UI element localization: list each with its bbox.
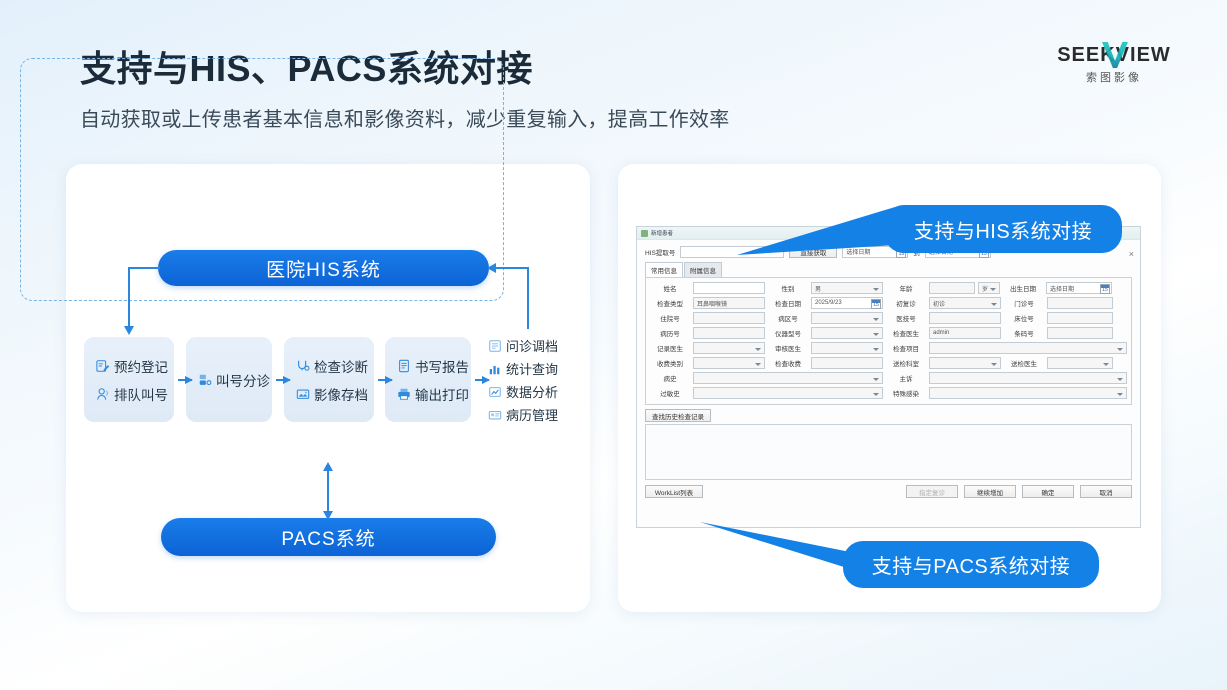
field-exam-fee-input[interactable]	[811, 357, 883, 369]
tab-attached-info-label: 附属信息	[690, 268, 716, 275]
field-value: 男	[815, 284, 821, 293]
field-label: 初复诊	[886, 298, 926, 308]
statistics-query-icon	[488, 362, 502, 376]
tab-common-info[interactable]: 常用信息	[645, 262, 683, 277]
flow-item: 排队叫号	[96, 384, 168, 404]
patient-icon	[641, 230, 648, 237]
field-label: 收费类别	[650, 358, 690, 368]
write-report-icon	[397, 359, 411, 373]
callout-his: 支持与HIS系统对接	[884, 205, 1122, 253]
field-allergy-history-input[interactable]	[693, 387, 883, 399]
field-tech-no-input[interactable]	[929, 312, 1001, 324]
dialog-action-bar: WorkList列表 指定复诊 继续增加 确定 取消	[637, 480, 1140, 498]
confirm-label: 确定	[1042, 487, 1055, 497]
worklist-button[interactable]: WorkList列表	[645, 485, 703, 498]
field-value: admin	[933, 330, 949, 336]
field-label: 记录医生	[650, 343, 690, 353]
cancel-label: 取消	[1100, 487, 1113, 497]
flow-item-label: 排队叫号	[114, 384, 168, 404]
field-bed-no-input[interactable]	[1047, 312, 1113, 324]
flow-item: 检查诊断	[296, 356, 368, 376]
confirm-button[interactable]: 确定	[1022, 485, 1074, 498]
new-patient-dialog: 新增患者 HIS提取号 直接获取 选择日期 15 到 选择日期 15 常用信息	[636, 226, 1141, 528]
field-label: 检查类型	[650, 298, 690, 308]
continue-add-button[interactable]: 继续增加	[964, 485, 1016, 498]
field-sending-doctor-select[interactable]	[1047, 357, 1113, 369]
flow-step-card-2[interactable]: 叫号分诊	[186, 337, 272, 422]
flow-item-label: 输出打印	[415, 384, 469, 404]
find-history-records-button[interactable]: 查找历史检查记录	[645, 409, 711, 422]
field-value: 选择日期	[1050, 284, 1074, 293]
connector-his-to-step1-horizontal	[128, 267, 160, 269]
worklist-label: WorkList列表	[655, 487, 693, 497]
form-row: 记录医生 审核医生 检查项目	[650, 342, 1127, 354]
tab-common-info-label: 常用信息	[651, 268, 677, 275]
field-label: 床位号	[1004, 313, 1044, 323]
form-row: 检查类型 耳鼻咽喉镜 检查日期 2025/9/2315 初复诊 初诊 门诊号	[650, 297, 1127, 309]
find-history-records-label: 查找历史检查记录	[652, 411, 704, 421]
form-row: 过敏史 特殊感染	[650, 387, 1127, 399]
flow-item: 输出打印	[397, 384, 469, 404]
field-label: 送检医生	[1004, 358, 1044, 368]
flow-item: 预约登记	[96, 356, 168, 376]
callout-pacs-tail	[700, 520, 860, 572]
field-value: 初诊	[933, 299, 945, 308]
field-label: 医技号	[886, 313, 926, 323]
callout-his-label: 支持与HIS系统对接	[914, 215, 1092, 244]
field-label: 住院号	[650, 313, 690, 323]
field-label: 门诊号	[1004, 298, 1044, 308]
flow-item: 统计查询	[488, 359, 558, 378]
calendar-icon[interactable]: 15	[1100, 284, 1110, 294]
field-label: 送检科室	[886, 358, 926, 368]
field-special-infection-select[interactable]	[929, 387, 1127, 399]
field-value: 2025/9/23	[815, 300, 842, 306]
field-label: 仪器型号	[768, 328, 808, 338]
field-label: 病区号	[768, 313, 808, 323]
connector-his-to-step1-vertical	[128, 267, 130, 327]
flow-item-label: 检查诊断	[314, 356, 368, 376]
field-outpatient-no-input[interactable]	[1047, 297, 1113, 309]
field-exam-doctor-input[interactable]: admin	[929, 327, 1001, 339]
connector-step5-to-his-horizontal	[489, 267, 529, 269]
form-row: 病史 主诉	[650, 372, 1127, 384]
assign-revisit-button[interactable]: 指定复诊	[906, 485, 958, 498]
print-output-icon	[397, 387, 411, 401]
form-row: 姓名 性别 男 年龄 岁 出生日期 选择日期15	[650, 282, 1127, 294]
history-button-row: 查找历史检查记录	[637, 405, 1140, 424]
field-device-model-select[interactable]	[811, 327, 883, 339]
field-chief-complaint-select[interactable]	[929, 372, 1127, 384]
field-label: 特殊感染	[886, 388, 926, 398]
close-icon[interactable]: ×	[1129, 249, 1134, 259]
flow-item-label: 数据分析	[506, 382, 558, 401]
calendar-icon[interactable]: 15	[871, 299, 881, 309]
flow-item-label: 预约登记	[114, 356, 168, 376]
flow-step-card-4[interactable]: 书写报告 输出打印	[385, 337, 471, 422]
flow-item: 问诊调档	[488, 336, 558, 355]
flow-item: 叫号分诊	[198, 370, 270, 390]
field-age-input[interactable]	[929, 282, 975, 294]
dialog-title: 新增患者	[651, 229, 673, 237]
appointment-register-icon	[96, 359, 110, 373]
field-label: 条码号	[1004, 328, 1044, 338]
field-label: 检查收费	[768, 358, 808, 368]
connector-flow-to-pacs	[327, 470, 329, 512]
flow-step-card-1[interactable]: 预约登记 排队叫号	[84, 337, 174, 422]
connector-step5-to-his-vertical	[527, 267, 529, 329]
flow-item-label: 书写报告	[415, 356, 469, 376]
data-analysis-icon	[488, 385, 502, 399]
his-system-label: 医院HIS系统	[266, 255, 381, 282]
field-label: 检查日期	[768, 298, 808, 308]
field-exam-type-input[interactable]: 耳鼻咽喉镜	[693, 297, 765, 309]
field-exam-item-select[interactable]	[929, 342, 1127, 354]
field-inpatient-no-input[interactable]	[693, 312, 765, 324]
flow-item-label: 叫号分诊	[216, 370, 270, 390]
field-label: 病史	[650, 373, 690, 383]
form-row: 住院号 病区号 医技号 床位号	[650, 312, 1127, 324]
cancel-button[interactable]: 取消	[1080, 485, 1132, 498]
flow-item: 病历管理	[488, 405, 558, 424]
form-row: 收费类别 检查收费 送检科室 送检医生	[650, 357, 1127, 369]
field-fee-category-select[interactable]	[693, 357, 765, 369]
field-label: 检查项目	[886, 343, 926, 353]
history-records-list[interactable]	[645, 424, 1132, 480]
field-recording-doctor-select[interactable]	[693, 342, 765, 354]
flow-item: 数据分析	[488, 382, 558, 401]
field-name-input[interactable]	[693, 282, 765, 294]
field-label: 姓名	[650, 283, 690, 293]
field-label: 主诉	[886, 373, 926, 383]
brand-logo: SEEKVIEW 索图影像	[1029, 44, 1199, 92]
consultation-record-icon	[488, 339, 502, 353]
field-exam-date-input[interactable]: 2025/9/2315	[811, 297, 883, 309]
flow-item: 书写报告	[397, 356, 469, 376]
flow-arrow-4	[475, 379, 489, 381]
image-archive-icon	[296, 387, 310, 401]
pacs-system-node[interactable]: PACS系统	[161, 518, 496, 556]
field-record-no-input[interactable]	[693, 327, 765, 339]
callout-pacs: 支持与PACS系统对接	[843, 541, 1099, 588]
his-fetch-label: HIS提取号	[645, 247, 675, 257]
callout-pacs-label: 支持与PACS系统对接	[872, 550, 1070, 579]
flow-arrow-3	[378, 379, 392, 381]
his-system-node[interactable]: 医院HIS系统	[158, 250, 489, 286]
field-ward-no-select[interactable]	[811, 312, 883, 324]
field-birthdate-input[interactable]: 选择日期15	[1046, 282, 1112, 294]
field-label: 审核医生	[768, 343, 808, 353]
field-label: 性别	[768, 283, 808, 293]
flow-arrow-2	[276, 379, 290, 381]
field-review-doctor-select[interactable]	[811, 342, 883, 354]
field-label: 出生日期	[1003, 283, 1043, 293]
triage-icon	[198, 373, 212, 387]
field-visit-type-select[interactable]: 初诊	[929, 297, 1001, 309]
brand-logo-subtitle: 索图影像	[1029, 69, 1199, 85]
form-row: 病历号 仪器型号 检查医生 admin 条码号	[650, 327, 1127, 339]
flow-item-label: 影像存档	[314, 384, 368, 404]
field-age-unit-select[interactable]: 岁	[978, 282, 1000, 294]
pacs-system-label: PACS系统	[281, 524, 375, 551]
field-sending-dept-select[interactable]	[929, 357, 1001, 369]
tab-attached-info[interactable]: 附属信息	[684, 262, 722, 277]
dialog-tabs: 常用信息 附属信息	[637, 262, 1140, 277]
field-label: 年龄	[886, 283, 926, 293]
queue-call-icon	[96, 387, 110, 401]
field-label: 病历号	[650, 328, 690, 338]
medical-record-icon	[488, 408, 502, 422]
exam-diagnosis-icon	[296, 359, 310, 373]
flow-arrow-1	[178, 379, 192, 381]
field-gender-select[interactable]: 男	[811, 282, 883, 294]
flow-item-label: 病历管理	[506, 405, 558, 424]
continue-add-label: 继续增加	[977, 487, 1003, 497]
flow-step-card-3[interactable]: 检查诊断 影像存档	[284, 337, 374, 422]
flow-item-label: 统计查询	[506, 359, 558, 378]
callout-his-tail	[735, 205, 895, 261]
field-medical-history-input[interactable]	[693, 372, 883, 384]
field-value: 岁	[982, 284, 988, 293]
flow-item-label: 问诊调档	[506, 336, 558, 355]
field-barcode-no-input[interactable]	[1047, 327, 1113, 339]
field-label: 过敏史	[650, 388, 690, 398]
field-value: 耳鼻咽喉镜	[697, 299, 727, 308]
assign-revisit-label: 指定复诊	[919, 487, 945, 497]
patient-form: 姓名 性别 男 年龄 岁 出生日期 选择日期15 检查类型 耳鼻咽喉镜 检查日期…	[645, 277, 1132, 405]
flow-item: 影像存档	[296, 384, 368, 404]
field-label: 检查医生	[886, 328, 926, 338]
flow-step-card-5[interactable]: 问诊调档 统计查询 数据分析 病历管理	[486, 332, 570, 428]
